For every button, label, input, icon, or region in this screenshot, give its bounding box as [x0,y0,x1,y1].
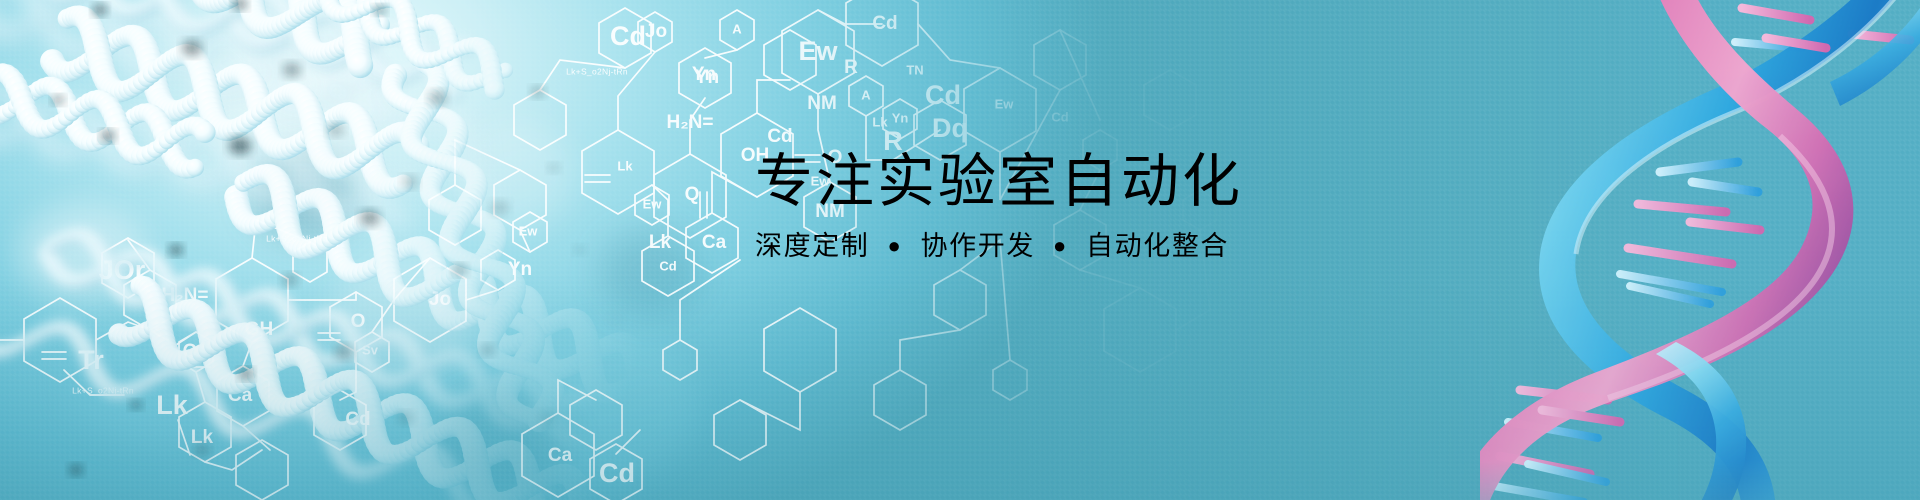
subtitle-part-3: 自动化整合 [1086,231,1229,261]
hero-subtitle: 深度定制 ● 协作开发 ● 自动化整合 [755,230,1375,264]
hero-text-block: 专注实验室自动化 深度定制 ● 协作开发 ● 自动化整合 [755,152,1375,264]
bullet-separator-icon: ● [888,233,903,258]
subtitle-part-1: 深度定制 [755,231,869,261]
hero-banner: CdEwYnCdYnJoRTNCdH₂N=NMYnDqEwCdOHCdRONME… [0,0,1920,500]
bullet-separator-icon: ● [1053,233,1068,258]
subtitle-part-2: 协作开发 [921,231,1035,261]
page-title: 专注实验室自动化 [755,152,1375,212]
dna-double-helix-ribbon [1480,0,1920,500]
